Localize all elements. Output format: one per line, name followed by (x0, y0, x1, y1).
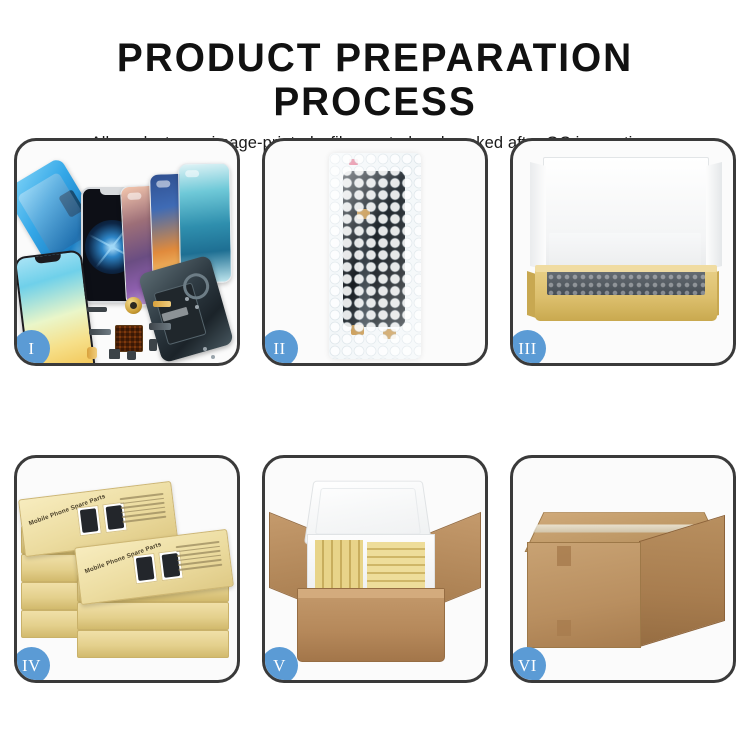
step-badge-4: IV (14, 647, 50, 683)
step-badge-1: I (14, 330, 50, 366)
retail-box-stack: Mobile Phone Spare Parts Mobile Phone Sp… (21, 480, 235, 668)
process-step-5: V (262, 455, 488, 683)
step-6-image (513, 458, 733, 680)
step-badge-6: VI (510, 647, 546, 683)
carton-seam-top (557, 546, 571, 566)
step-2-image (265, 141, 485, 363)
carton-front-face (527, 542, 641, 648)
step-1-image (17, 141, 237, 363)
step-badge-2: II (262, 330, 298, 366)
process-step-4: Mobile Phone Spare Parts Mobile Phone Sp… (14, 455, 240, 683)
step-badge-3: III (510, 330, 546, 366)
process-steps-grid: I II (14, 138, 736, 683)
spare-parts-cluster (87, 293, 217, 363)
bag-sheen (329, 153, 421, 359)
bubble-wrap-bag-icon (329, 153, 421, 359)
step-badge-5: V (262, 647, 298, 683)
header: PRODUCT PREPARATION PROCESS All products… (0, 0, 750, 153)
page-title: PRODUCT PREPARATION PROCESS (11, 0, 739, 124)
process-step-1: I (14, 138, 240, 366)
step-5-image (265, 458, 485, 680)
carton-body (297, 588, 445, 662)
carton-seam-bottom (557, 620, 571, 636)
process-step-6: VI (510, 455, 736, 683)
infographic-page: PRODUCT PREPARATION PROCESS All products… (0, 0, 750, 750)
step-4-image: Mobile Phone Spare Parts Mobile Phone Sp… (17, 458, 237, 680)
process-step-2: II (262, 138, 488, 366)
process-step-3: III (510, 138, 736, 366)
packed-kraft-boxes (315, 540, 425, 590)
step-3-image (513, 141, 733, 363)
tray-lip (535, 265, 717, 272)
